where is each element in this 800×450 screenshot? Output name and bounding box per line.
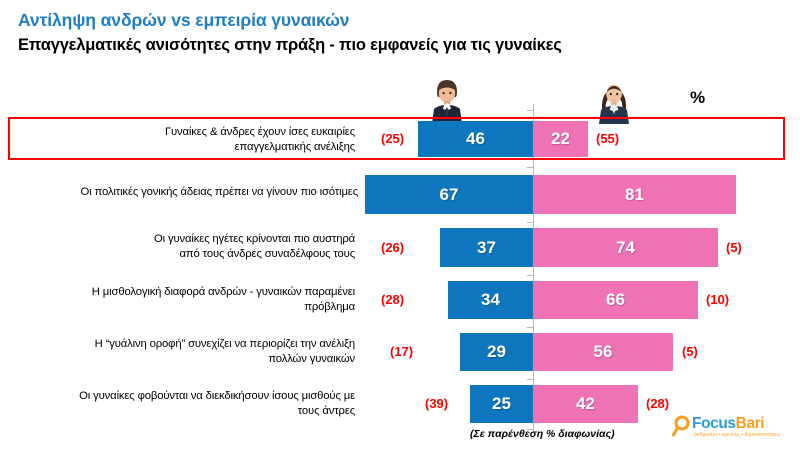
women-disagree-value: (28) (646, 396, 669, 411)
women-bar[interactable]: 81 (533, 175, 736, 214)
axis-tick (527, 222, 534, 223)
logo-wordmark: FocusBari (692, 415, 764, 433)
logo-bari-text: Bari (736, 415, 765, 432)
row-label: Οι γυναίκες ηγέτες κρίνονται πιο αυστηρά… (65, 232, 355, 263)
men-disagree-value: (17) (390, 344, 413, 359)
table-row[interactable]: Γυναίκες & άνδρες έχουν ίσες ευκαιρίες ε… (0, 121, 800, 157)
women-disagree-value: (55) (596, 131, 619, 146)
men-bar[interactable]: 29 (460, 333, 533, 371)
row-label-line1: Γυναίκες & άνδρες έχουν ίσες ευκαιρίες (65, 125, 355, 140)
men-bar[interactable]: 34 (448, 281, 533, 319)
footnote-text: (Σε παρένθεση % διαφωνίας) (470, 428, 615, 440)
magnifying-glass-icon (672, 415, 692, 437)
logo-tagline: άνθρωποι • έρευνες • δημοσκοπήσεις (694, 432, 780, 438)
men-disagree-value: (28) (381, 292, 404, 307)
row-label-line1: Η μισθολογική διαφορά ανδρών - γυναικών … (45, 285, 355, 300)
men-bar[interactable]: 37 (440, 228, 533, 267)
row-label: Γυναίκες & άνδρες έχουν ίσες ευκαιρίες ε… (65, 125, 355, 156)
percent-unit-label: % (690, 88, 705, 108)
row-label: Οι πολιτικές γονικής άδειας πρέπει να γί… (28, 185, 358, 200)
row-label: Οι γυναίκες φοβούνται να διεκδικήσουν ίσ… (25, 389, 355, 420)
row-label-line1: Οι γυναίκες φοβούνται να διεκδικήσουν ίσ… (25, 389, 355, 404)
row-label-line1: Οι γυναίκες ηγέτες κρίνονται πιο αυστηρά (65, 232, 355, 247)
focusbari-logo: FocusBari άνθρωποι • έρευνες • δημοσκοπή… (672, 415, 792, 445)
row-label-line1: Οι πολιτικές γονικής άδειας πρέπει να γί… (28, 185, 358, 200)
men-disagree-value: (25) (381, 131, 404, 146)
page-title: Αντίληψη ανδρών vs εμπειρία γυναικών (18, 10, 788, 32)
axis-tick (527, 110, 534, 111)
row-label-line1: Η “γυάλινη οροφή” συνεχίζει να περιορίζε… (45, 337, 355, 352)
women-bar[interactable]: 56 (533, 333, 673, 371)
women-bar[interactable]: 42 (533, 385, 638, 423)
row-label-line2: πρόβλημα (45, 300, 355, 315)
row-label: Η μισθολογική διαφορά ανδρών - γυναικών … (45, 285, 355, 316)
men-bar[interactable]: 25 (470, 385, 533, 423)
women-disagree-value: (10) (706, 292, 729, 307)
table-row[interactable]: Η “γυάλινη οροφή” συνεχίζει να περιορίζε… (0, 333, 800, 371)
table-row[interactable]: Οι γυναίκες ηγέτες κρίνονται πιο αυστηρά… (0, 228, 800, 267)
women-disagree-value: (5) (682, 344, 698, 359)
logo-focus-text: Focus (692, 415, 736, 432)
axis-tick (527, 379, 534, 380)
women-bar[interactable]: 74 (533, 228, 718, 267)
page-subtitle: Επαγγελματικές ανισότητες στην πράξη - π… (18, 35, 788, 56)
row-label: Η “γυάλινη οροφή” συνεχίζει να περιορίζε… (45, 337, 355, 368)
row-label-line2: τους άντρες (25, 404, 355, 419)
table-row[interactable]: Οι πολιτικές γονικής άδειας πρέπει να γί… (0, 175, 800, 214)
women-disagree-value: (5) (726, 240, 742, 255)
table-row[interactable]: Η μισθολογική διαφορά ανδρών - γυναικών … (0, 281, 800, 319)
axis-tick (527, 167, 534, 168)
row-label-line2: από τους άνδρες συναδέλφους τους (65, 247, 355, 262)
women-bar[interactable]: 22 (533, 121, 588, 157)
men-bar[interactable]: 46 (418, 121, 533, 157)
title-block: Αντίληψη ανδρών vs εμπειρία γυναικών Επα… (18, 10, 788, 56)
men-disagree-value: (39) (425, 396, 448, 411)
row-label-line2: πολλών γυναικών (45, 352, 355, 367)
axis-tick (527, 327, 534, 328)
men-disagree-value: (26) (381, 240, 404, 255)
axis-tick (527, 275, 534, 276)
row-label-line2: επαγγελματικής ανέλιξης (65, 140, 355, 155)
men-bar[interactable]: 67 (365, 175, 533, 214)
women-bar[interactable]: 66 (533, 281, 698, 319)
